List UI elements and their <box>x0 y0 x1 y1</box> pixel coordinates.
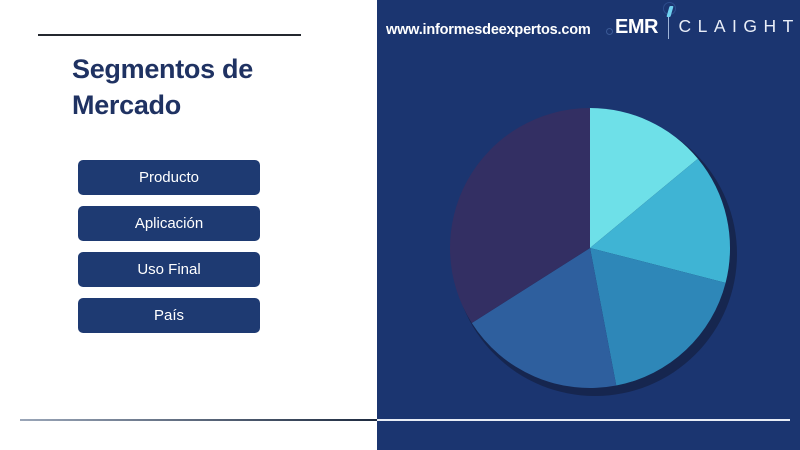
bottom-divider-left <box>20 419 378 421</box>
segment-button-producto[interactable]: Producto <box>78 160 260 195</box>
website-url: www.informesdeexpertos.com <box>386 22 591 38</box>
page-title: Segmentos de Mercado <box>72 52 362 123</box>
segment-button-group: Producto Aplicación Uso Final País <box>78 160 260 333</box>
top-divider <box>38 34 301 36</box>
slide-root: Segmentos de Mercado Producto Aplicación… <box>0 0 800 450</box>
header-bar: www.informesdeexpertos.com EMR CLAIGHT <box>377 0 800 46</box>
logo-divider <box>668 16 670 39</box>
pie-chart <box>425 83 755 413</box>
segment-button-uso-final[interactable]: Uso Final <box>78 252 260 287</box>
pie-chart-stage <box>377 46 800 406</box>
segment-button-aplicacion[interactable]: Aplicación <box>78 206 260 241</box>
logo-circle-decor-icon <box>606 28 613 35</box>
left-panel: Segmentos de Mercado Producto Aplicación… <box>0 0 378 450</box>
brand-logo: EMR CLAIGHT <box>615 14 800 40</box>
logo-emr-text: EMR <box>615 17 658 37</box>
logo-claight-text: CLAIGHT <box>678 18 799 36</box>
right-panel: www.informesdeexpertos.com EMR CLAIGHT <box>377 0 800 450</box>
bottom-divider-right <box>377 419 790 421</box>
segment-button-pais[interactable]: País <box>78 298 260 333</box>
